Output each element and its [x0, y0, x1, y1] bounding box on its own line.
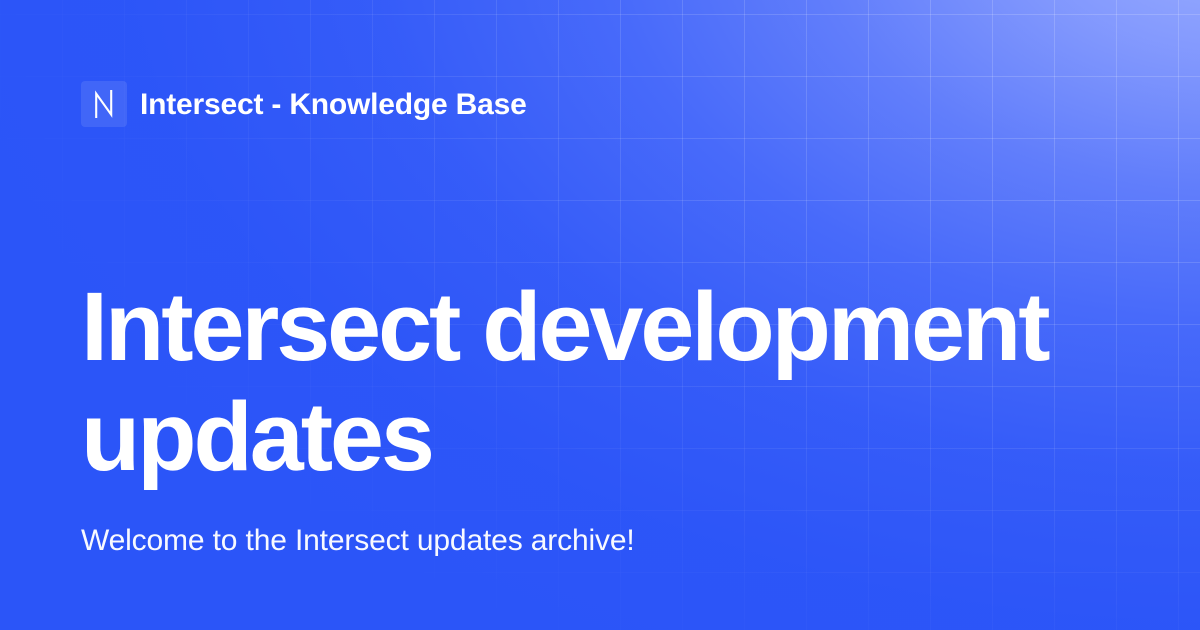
hero-content: Intersect development updates Welcome to… — [81, 272, 1121, 560]
intersect-n-logo-icon — [81, 81, 127, 127]
site-title: Intersect - Knowledge Base — [140, 90, 527, 120]
page-subtitle: Welcome to the Intersect updates archive… — [81, 522, 1121, 560]
page-title: Intersect development updates — [81, 272, 1111, 492]
brand-header: Intersect - Knowledge Base — [81, 81, 527, 127]
og-card: Intersect - Knowledge Base Intersect dev… — [0, 0, 1200, 630]
